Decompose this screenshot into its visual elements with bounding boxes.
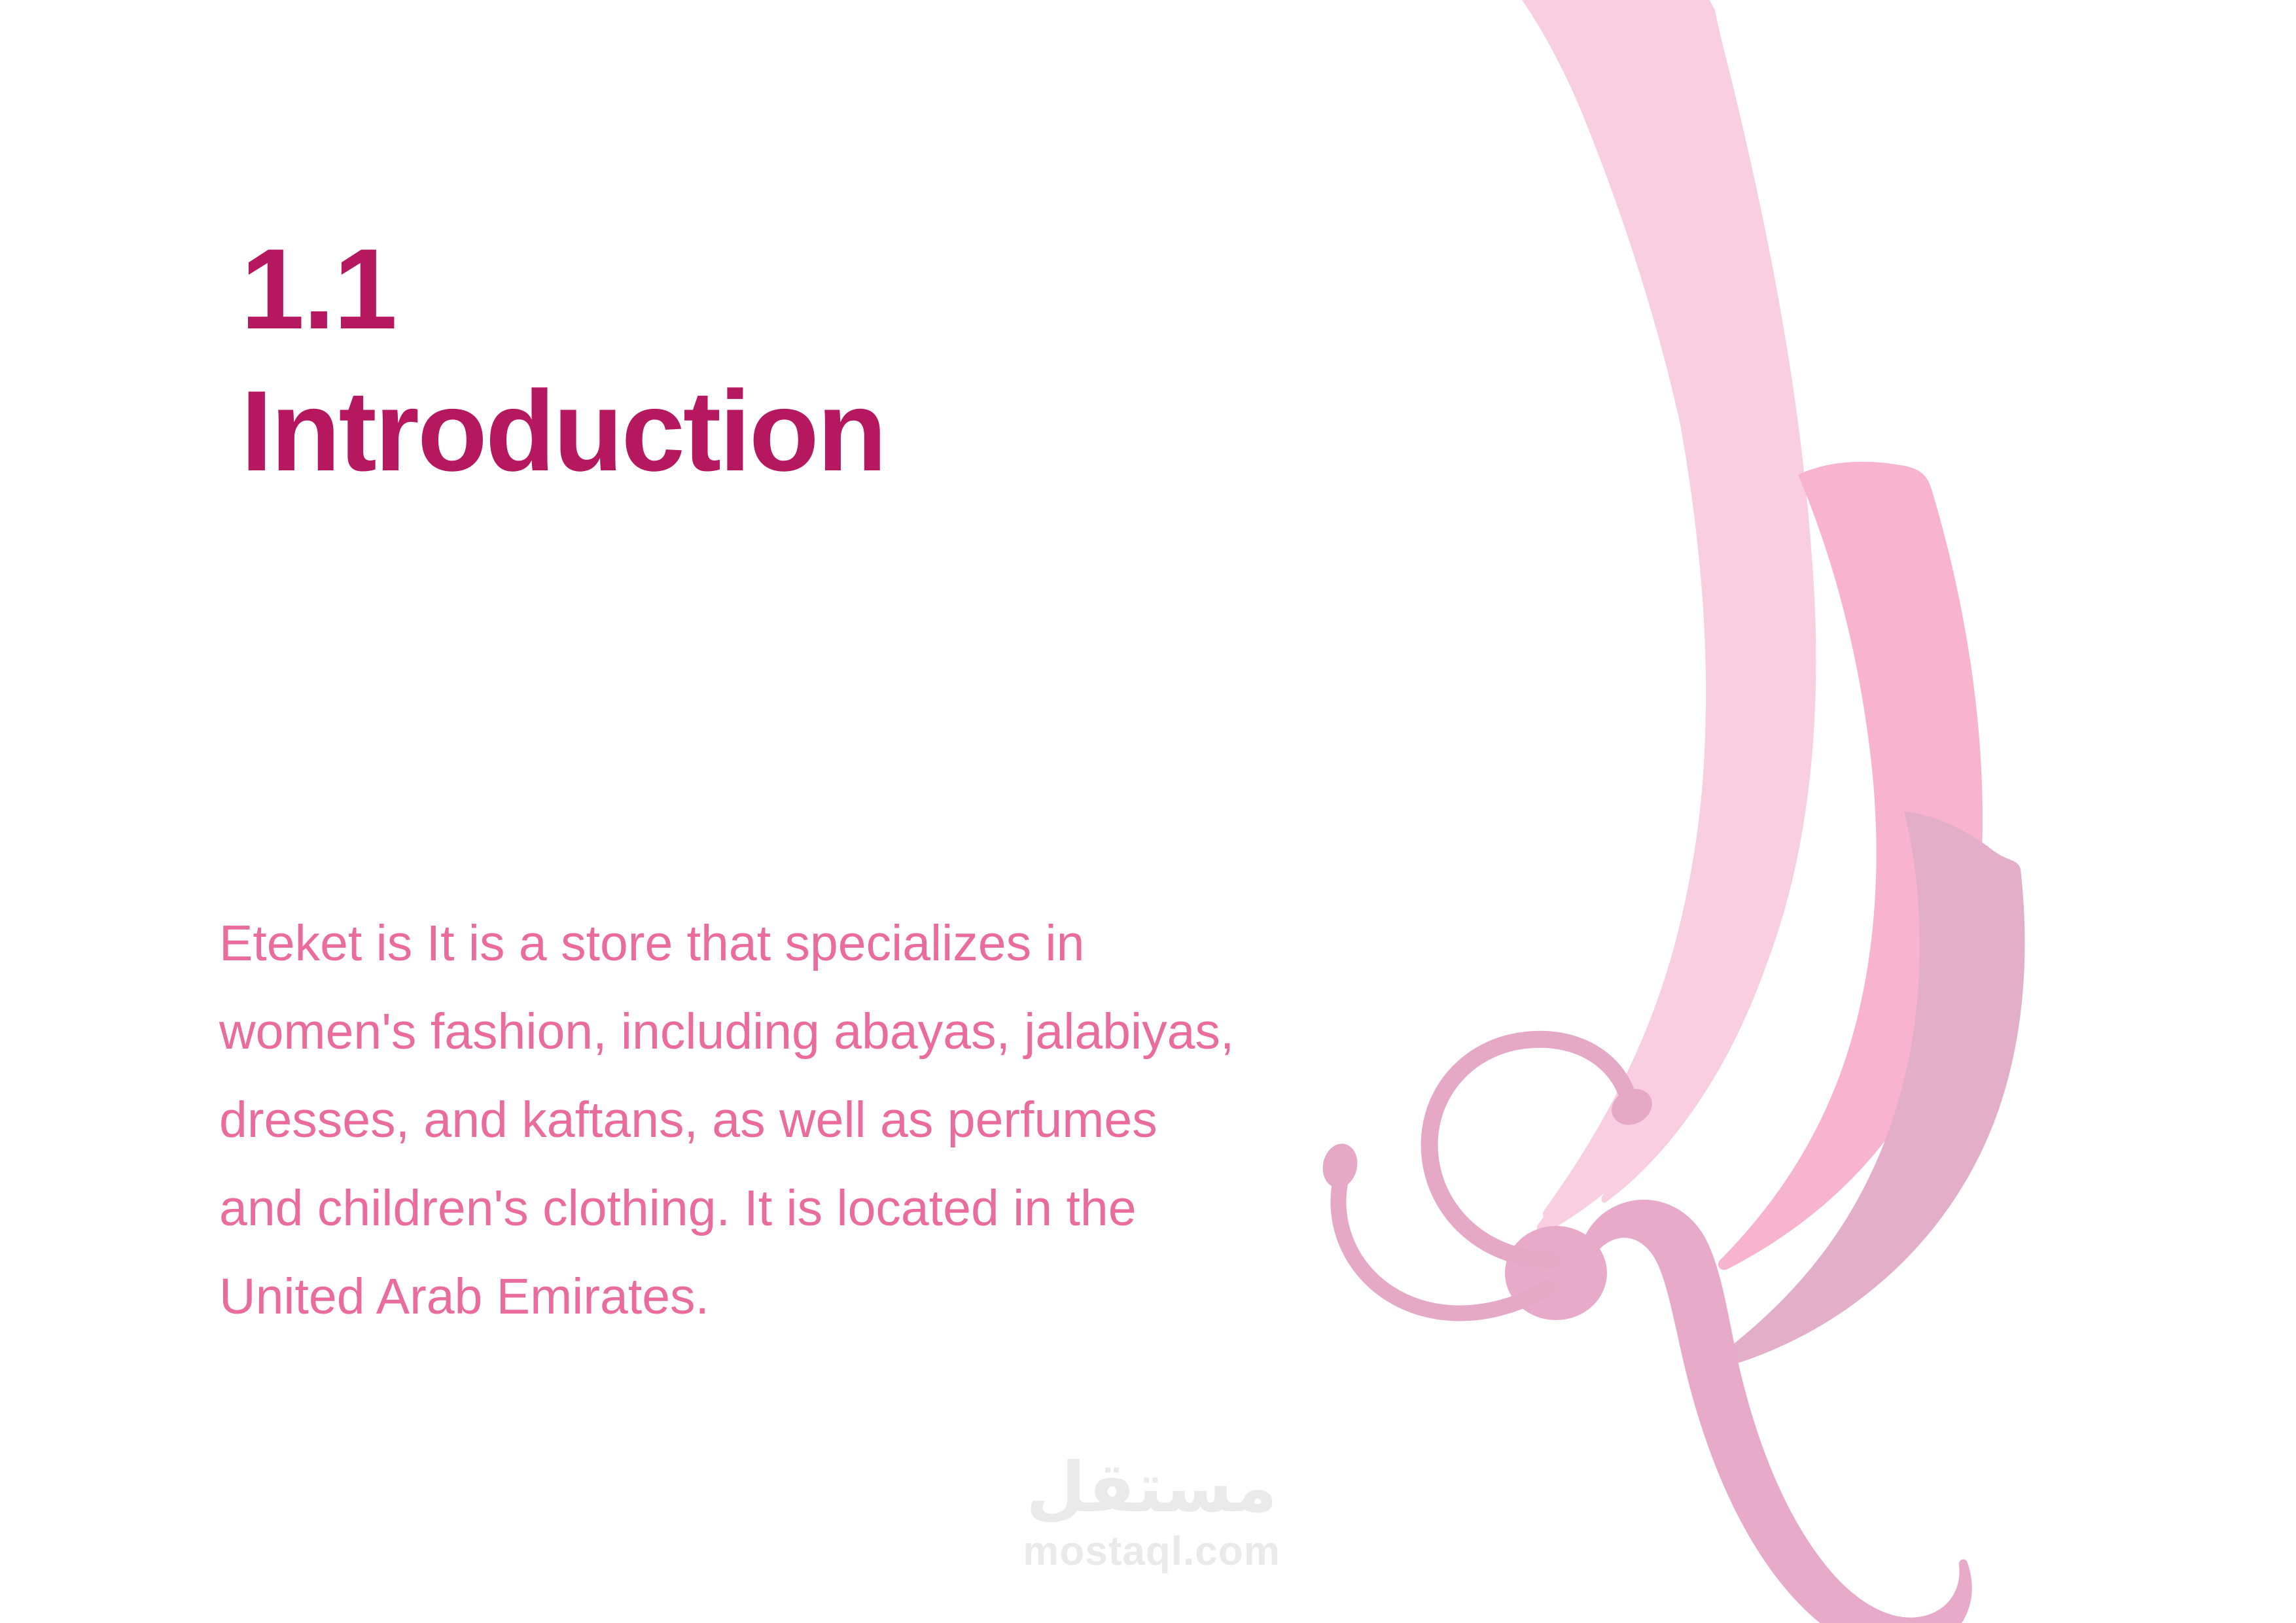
butterfly-head	[1505, 1226, 1607, 1320]
wing-outer-light-body	[1470, 0, 1814, 1219]
section-title: Introduction	[241, 374, 1157, 489]
mostaql-watermark: مستقل mostaql.com	[1011, 1454, 1292, 1588]
antenna-lower-tip	[1318, 1140, 1361, 1191]
wing-outer	[1537, 0, 1816, 1234]
antenna-upper	[1430, 1039, 1625, 1260]
antenna-lower	[1338, 1178, 1548, 1314]
section-number: 1.1	[241, 232, 1157, 347]
watermark-domain-text: mostaql.com	[1011, 1531, 1292, 1572]
body-paragraph-container: Eteket is It is a store that specializes…	[219, 899, 1240, 1341]
page-title: 1.1 Introduction	[241, 232, 1157, 489]
butterfly-logo-svg	[1296, 0, 2296, 1623]
butterfly-logo-graphic	[1296, 0, 2296, 1623]
slide-canvas: 1.1 Introduction Eteket is It is a store…	[0, 0, 2296, 1623]
wing-outer-light	[1492, 0, 1814, 1203]
antenna-upper-tip	[1606, 1082, 1659, 1132]
wing-middle	[1718, 462, 1983, 1270]
watermark-arabic-text: مستقل	[1011, 1454, 1292, 1522]
body-paragraph: Eteket is It is a store that specializes…	[219, 899, 1240, 1341]
butterfly-body-stem	[1508, 1200, 1972, 1623]
wing-inner	[1712, 811, 2024, 1369]
